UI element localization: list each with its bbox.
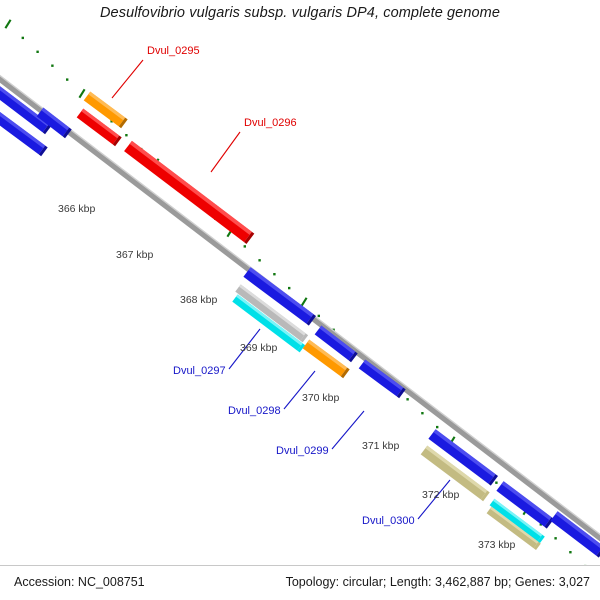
gene-label-leader — [112, 60, 143, 98]
tick-minor — [258, 259, 260, 261]
genome-map-canvas[interactable]: 366 kbp367 kbp368 kbp369 kbp370 kbp371 k… — [0, 0, 600, 600]
tick-minor — [66, 78, 68, 80]
tick-minor — [273, 273, 275, 275]
gene-label-dvul_0297[interactable]: Dvul_0297 — [173, 365, 226, 377]
tick-minor — [436, 426, 438, 428]
gene-label-leader — [332, 411, 364, 449]
accession-text: Accession: NC_008751 — [14, 575, 145, 589]
position-tick-label: 369 kbp — [240, 342, 278, 354]
gene-label-dvul_0296[interactable]: Dvul_0296 — [244, 117, 297, 129]
tick-minor — [318, 315, 320, 317]
position-tick-labels: 366 kbp367 kbp368 kbp369 kbp370 kbp371 k… — [58, 203, 516, 551]
status-bar: Accession: NC_008751 Topology: circular;… — [0, 565, 600, 600]
genome-meta-text: Topology: circular; Length: 3,462,887 bp… — [286, 575, 590, 589]
tick-major — [301, 298, 306, 306]
position-tick-label: 366 kbp — [58, 203, 96, 215]
gene-label-dvul_0295[interactable]: Dvul_0295 — [147, 45, 200, 57]
tick-major — [79, 89, 84, 97]
position-tick-label: 371 kbp — [362, 440, 400, 452]
gene-label-layer[interactable]: Dvul_0295Dvul_0296Dvul_0297Dvul_0298Dvul… — [147, 45, 415, 527]
genome-map-viewer: Desulfovibrio vulgaris subsp. vulgaris D… — [0, 0, 600, 600]
gene-label-leader — [211, 132, 240, 172]
tick-minor — [495, 482, 497, 484]
tick-minor — [288, 287, 290, 289]
tick-minor — [36, 51, 38, 53]
position-tick-label: 372 kbp — [422, 489, 460, 501]
tick-major — [5, 20, 10, 28]
position-tick-label: 370 kbp — [302, 392, 340, 404]
gene-label-dvul_0299[interactable]: Dvul_0299 — [276, 445, 329, 457]
position-tick-label: 368 kbp — [180, 294, 218, 306]
gene-label-dvul_0298[interactable]: Dvul_0298 — [228, 405, 281, 417]
tick-minor — [421, 412, 423, 414]
tick-minor — [244, 245, 246, 247]
tick-minor — [125, 134, 127, 136]
tick-minor — [22, 37, 24, 39]
tick-minor — [569, 551, 571, 553]
tick-minor — [406, 398, 408, 400]
tick-minor — [554, 537, 556, 539]
gene-top-bevel — [248, 267, 313, 317]
tick-minor — [51, 65, 53, 67]
position-tick-label: 367 kbp — [116, 249, 154, 261]
gene-bar-blue-299[interactable] — [359, 360, 406, 399]
gene-label-dvul_0300[interactable]: Dvul_0300 — [362, 515, 415, 527]
position-tick-label: 373 kbp — [478, 539, 516, 551]
